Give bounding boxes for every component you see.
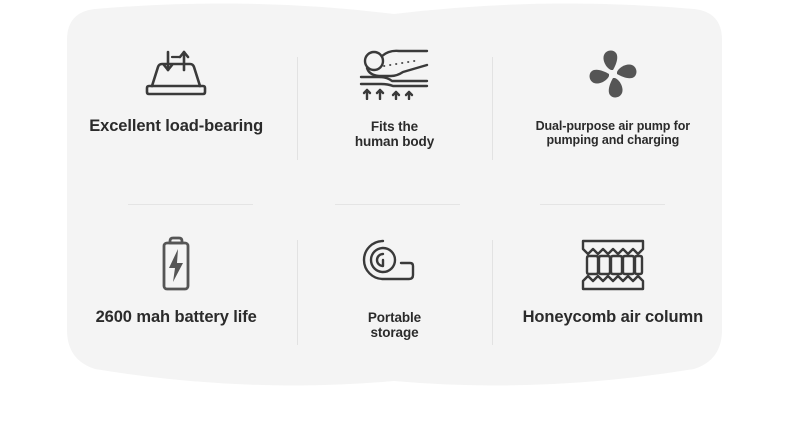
feature-highlight-panel: Excellent load-bearing (0, 0, 790, 427)
feature-label: Excellent load-bearing (89, 117, 263, 136)
feature-label: Fits the human body (355, 119, 434, 149)
honeycomb-air-column-icon (579, 236, 647, 294)
feature-cell-portable-storage: Portable storage (285, 214, 503, 427)
feature-cell-load-bearing: Excellent load-bearing (67, 0, 285, 214)
feature-cell-human-body: Fits the human body (285, 0, 503, 214)
feature-cell-honeycomb: Honeycomb air column (504, 214, 722, 427)
feature-label: Honeycomb air column (523, 308, 703, 327)
feature-label: Portable storage (368, 310, 421, 340)
feature-label: 2600 mah battery life (96, 308, 257, 327)
feature-label: Dual-purpose air pump for pumping and ch… (536, 119, 690, 147)
reclining-body-support-icon (357, 45, 431, 103)
battery-charge-icon (154, 236, 198, 294)
feature-grid: Excellent load-bearing (67, 0, 722, 427)
feature-cell-battery: 2600 mah battery life (67, 214, 285, 427)
rolled-mat-icon (361, 236, 427, 294)
mattress-load-arrows-icon (138, 45, 214, 103)
fan-pump-icon (584, 45, 642, 103)
feature-cell-air-pump: Dual-purpose air pump for pumping and ch… (504, 0, 722, 214)
